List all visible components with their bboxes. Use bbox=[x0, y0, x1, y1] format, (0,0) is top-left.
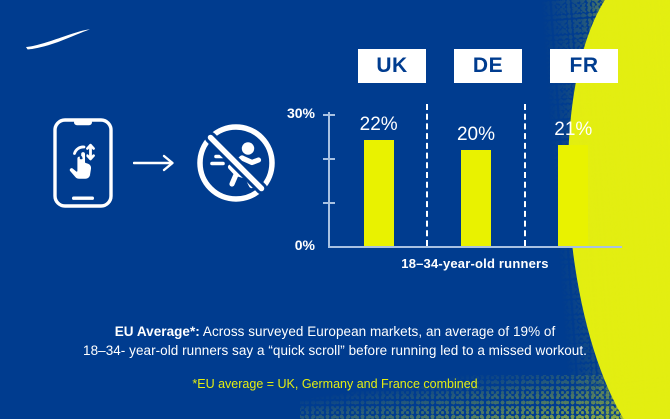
bar-group-de: 20% bbox=[460, 102, 492, 246]
bar-chart: UK DE FR 30% 0% 22% 20 bbox=[292, 50, 632, 278]
x-axis-caption: 18–34-year-old runners bbox=[328, 256, 622, 271]
phone-scroll-icon bbox=[52, 117, 114, 209]
country-chip-fr: FR bbox=[550, 49, 618, 83]
bar-rect-fr bbox=[558, 145, 588, 246]
bar-group-fr: 21% bbox=[557, 102, 589, 246]
infographic-canvas: UK DE FR 30% 0% 22% 20 bbox=[0, 0, 670, 419]
caption-line-1-rest: Across surveyed European markets, an ave… bbox=[200, 324, 555, 339]
pictogram-row bbox=[52, 108, 277, 218]
footnote: *EU average = UK, Germany and France com… bbox=[0, 376, 670, 392]
no-running-icon bbox=[195, 122, 277, 204]
caption-block: EU Average*: Across surveyed European ma… bbox=[0, 322, 670, 392]
bar-value-fr: 21% bbox=[554, 119, 592, 141]
arrow-right-icon bbox=[133, 153, 177, 173]
y-tick-label-30: 30% bbox=[287, 105, 315, 121]
caption-lead-label: EU Average*: bbox=[115, 324, 200, 339]
bar-rect-uk bbox=[364, 140, 394, 246]
x-axis-baseline bbox=[328, 246, 622, 248]
bar-value-de: 20% bbox=[457, 124, 495, 146]
bar-group-uk: 22% bbox=[363, 102, 395, 246]
y-tick-label-0: 0% bbox=[295, 237, 315, 253]
caption-line-2: 18–34- year-old runners say a “quick scr… bbox=[0, 341, 670, 360]
bar-value-uk: 22% bbox=[360, 114, 398, 136]
plot-area: 30% 0% 22% 20% 21% bbox=[292, 102, 632, 248]
bar-rect-de bbox=[461, 150, 491, 246]
country-label-row: UK DE FR bbox=[344, 50, 632, 82]
bar-series: 22% 20% 21% bbox=[330, 102, 622, 246]
country-chip-uk: UK bbox=[358, 49, 426, 83]
country-chip-de: DE bbox=[454, 49, 522, 83]
caption-line-1: EU Average*: Across surveyed European ma… bbox=[0, 322, 670, 341]
brooks-swoosh-logo bbox=[24, 26, 92, 52]
